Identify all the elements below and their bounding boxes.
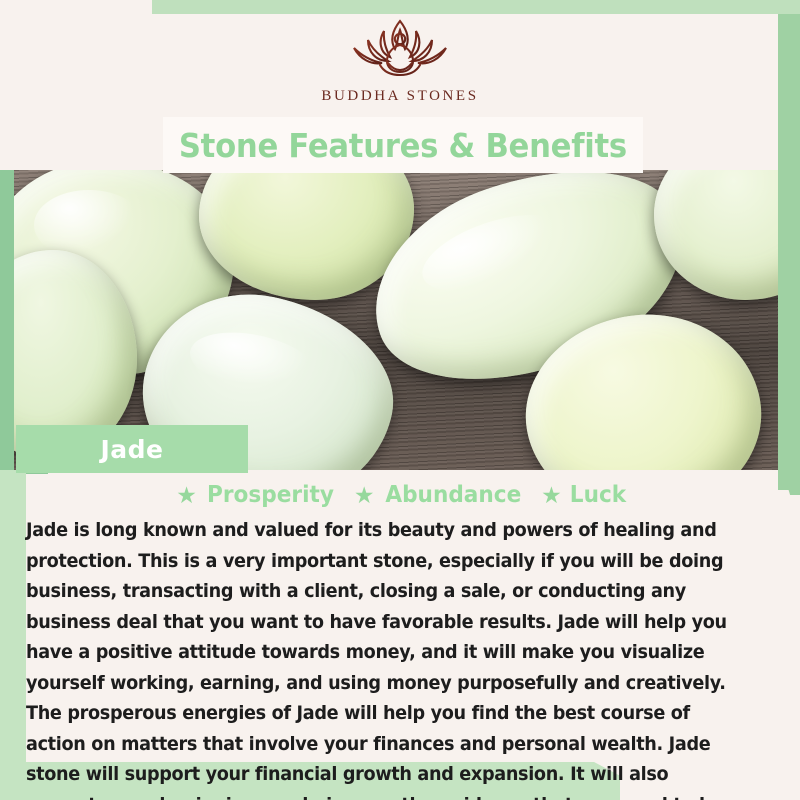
page-title: Stone Features & Benefits xyxy=(179,126,627,165)
benefit-item-abundance: ★ Abundance xyxy=(354,482,525,508)
benefit-item-prosperity: ★ Prosperity xyxy=(176,482,338,508)
poster-root: BUDDHA STONES Stone Features & Benefits … xyxy=(0,0,800,800)
stone-name-label: Jade xyxy=(100,435,163,464)
brand-name: BUDDHA STONES xyxy=(321,88,478,105)
frame-bottom-left-bar xyxy=(0,470,26,800)
star-icon: ★ xyxy=(176,484,197,507)
benefits-row: ★ Prosperity ★ Abundance ★ Luck xyxy=(26,478,778,512)
lotus-meditation-icon xyxy=(340,15,460,81)
benefit-label: Prosperity xyxy=(207,482,334,508)
content-panel: ★ Prosperity ★ Abundance ★ Luck Jade is … xyxy=(26,474,778,762)
stone-name-band: Jade xyxy=(16,425,248,473)
star-icon: ★ xyxy=(541,484,562,507)
benefit-label: Abundance xyxy=(385,482,521,508)
stone-description: Jade is long known and valued for its be… xyxy=(26,516,752,800)
title-band: Stone Features & Benefits xyxy=(163,117,643,173)
benefit-item-luck: ★ Luck xyxy=(541,482,628,508)
brand-header: BUDDHA STONES xyxy=(0,0,800,120)
star-icon: ★ xyxy=(354,484,375,507)
benefit-label: Luck xyxy=(570,482,626,508)
